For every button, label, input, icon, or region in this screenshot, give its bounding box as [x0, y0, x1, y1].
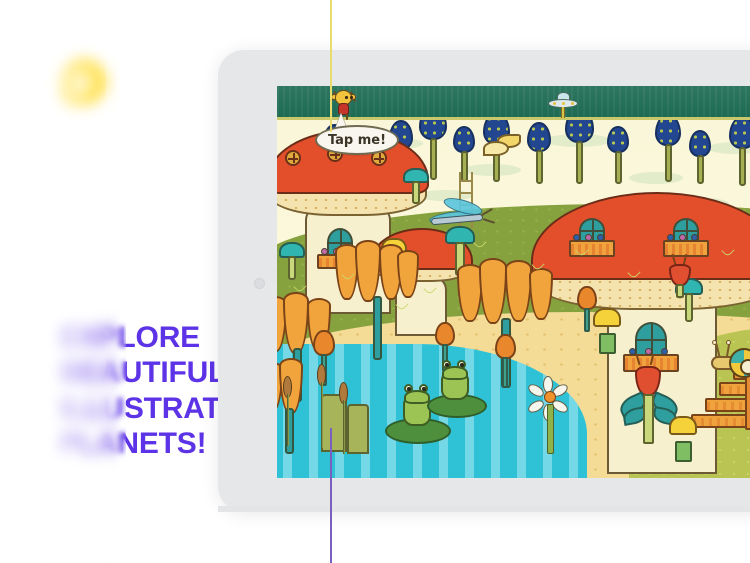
ufo-icon[interactable]	[548, 92, 578, 118]
pango-logo: p	[58, 58, 106, 106]
cattail[interactable]	[339, 382, 351, 454]
cap-window[interactable]	[285, 150, 301, 166]
teal-flower[interactable]	[403, 168, 429, 204]
guide-line-top	[330, 0, 332, 132]
logo-letter: p	[71, 66, 92, 96]
daisy-flower[interactable]	[527, 376, 573, 454]
teal-flower[interactable]	[279, 242, 305, 280]
device-bottom-bezel	[218, 506, 750, 512]
tablet-screen: Tap me!	[277, 86, 750, 478]
orange-umbrella-flower[interactable]	[335, 240, 421, 360]
game-scene[interactable]: Tap me!	[277, 86, 750, 478]
hint-bubble[interactable]: Tap me!	[315, 125, 399, 155]
focus-blur-overlay-soft	[106, 0, 126, 563]
tablet-device: Tap me!	[218, 50, 750, 512]
red-spiky-flower[interactable]	[667, 254, 693, 298]
hint-bubble-text: Tap me!	[328, 133, 386, 148]
bird[interactable]	[483, 132, 523, 158]
tulip[interactable]	[495, 334, 516, 388]
home-button[interactable]	[254, 278, 265, 289]
tulip[interactable]	[577, 286, 597, 332]
guide-line-bottom	[330, 428, 332, 563]
promo-screenshot: p EXPLORE BEAUTIFULLY ILLUSTRATED PLANET…	[0, 0, 750, 563]
yellow-flower[interactable]	[669, 416, 697, 462]
blue-tree[interactable]	[655, 114, 681, 182]
snail[interactable]	[709, 342, 750, 386]
cattail[interactable]	[317, 364, 329, 448]
yellow-flower[interactable]	[593, 308, 621, 354]
stair-step[interactable]	[705, 398, 750, 412]
cattail[interactable]	[283, 376, 295, 446]
stair-step[interactable]	[691, 414, 747, 428]
frog[interactable]	[435, 358, 477, 406]
